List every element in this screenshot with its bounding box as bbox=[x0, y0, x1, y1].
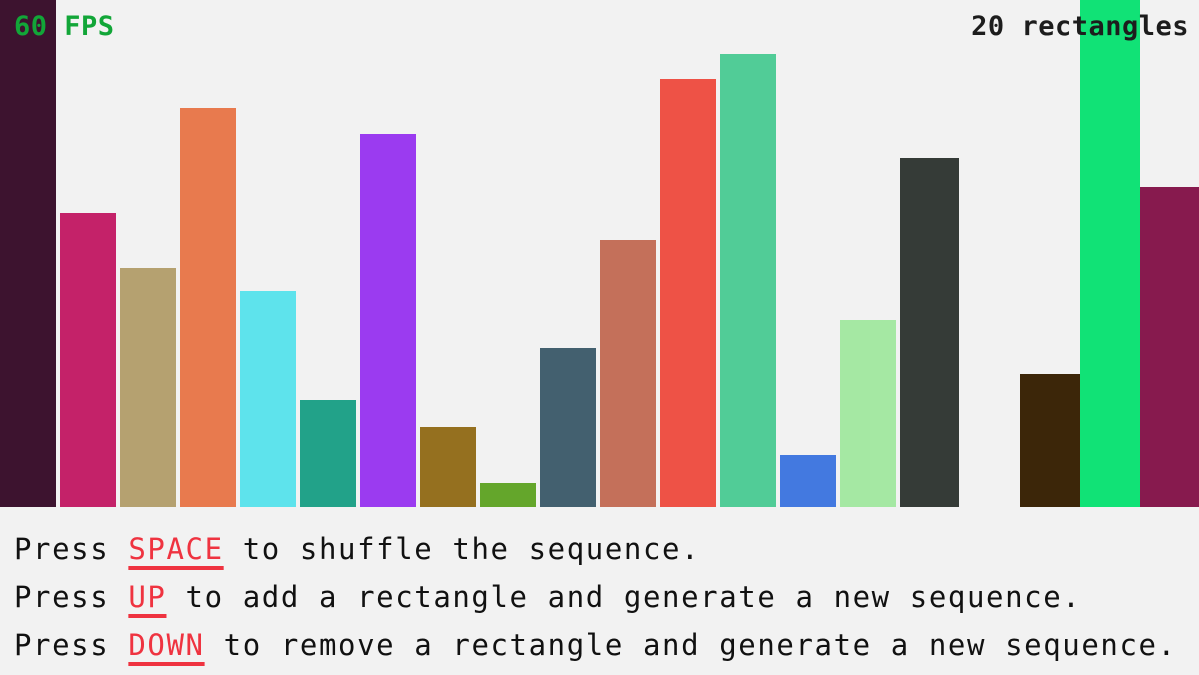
bar-rectangle bbox=[180, 108, 236, 507]
bar-rectangle bbox=[420, 427, 476, 507]
bar-rectangle bbox=[1140, 187, 1199, 507]
bar-rectangle bbox=[900, 158, 959, 507]
bar-rectangle bbox=[480, 483, 536, 507]
instruction-prefix: Press bbox=[14, 580, 128, 614]
instruction-suffix: to add a rectangle and generate a new se… bbox=[166, 580, 1081, 614]
instruction-line: Press DOWN to remove a rectangle and gen… bbox=[14, 621, 1199, 669]
bar-rectangle bbox=[540, 348, 596, 507]
bar-rectangle bbox=[1080, 0, 1140, 507]
instruction-prefix: Press bbox=[14, 628, 128, 662]
bar-rectangle bbox=[720, 54, 776, 507]
bar-chart bbox=[0, 0, 1199, 507]
bar-rectangle bbox=[300, 400, 356, 507]
bar-rectangle bbox=[660, 79, 716, 507]
fps-counter: 60 FPS bbox=[14, 13, 115, 40]
bar-rectangle bbox=[360, 134, 416, 507]
bar-rectangle bbox=[780, 455, 836, 507]
key-hint-space[interactable]: SPACE bbox=[128, 532, 223, 566]
bar-rectangle bbox=[240, 291, 296, 507]
bar-rectangle bbox=[840, 320, 896, 507]
bar-rectangle bbox=[120, 268, 176, 507]
bar-rectangle bbox=[1020, 374, 1080, 507]
instruction-suffix: to remove a rectangle and generate a new… bbox=[205, 628, 1177, 662]
instruction-prefix: Press bbox=[14, 532, 128, 566]
key-hint-up[interactable]: UP bbox=[128, 580, 166, 614]
app-canvas: 60 FPS 20 rectangles Press SPACE to shuf… bbox=[0, 0, 1199, 675]
instruction-suffix: to shuffle the sequence. bbox=[224, 532, 701, 566]
instruction-line: Press UP to add a rectangle and generate… bbox=[14, 573, 1199, 621]
bar-rectangle bbox=[600, 240, 656, 507]
bar-rectangle bbox=[60, 213, 116, 507]
key-hint-down[interactable]: DOWN bbox=[128, 628, 204, 662]
instructions-panel: Press SPACE to shuffle the sequence.Pres… bbox=[0, 507, 1199, 675]
bar-rectangle bbox=[0, 0, 56, 507]
instruction-line: Press SPACE to shuffle the sequence. bbox=[14, 525, 1199, 573]
rectangle-count-label: 20 rectangles bbox=[971, 13, 1189, 40]
